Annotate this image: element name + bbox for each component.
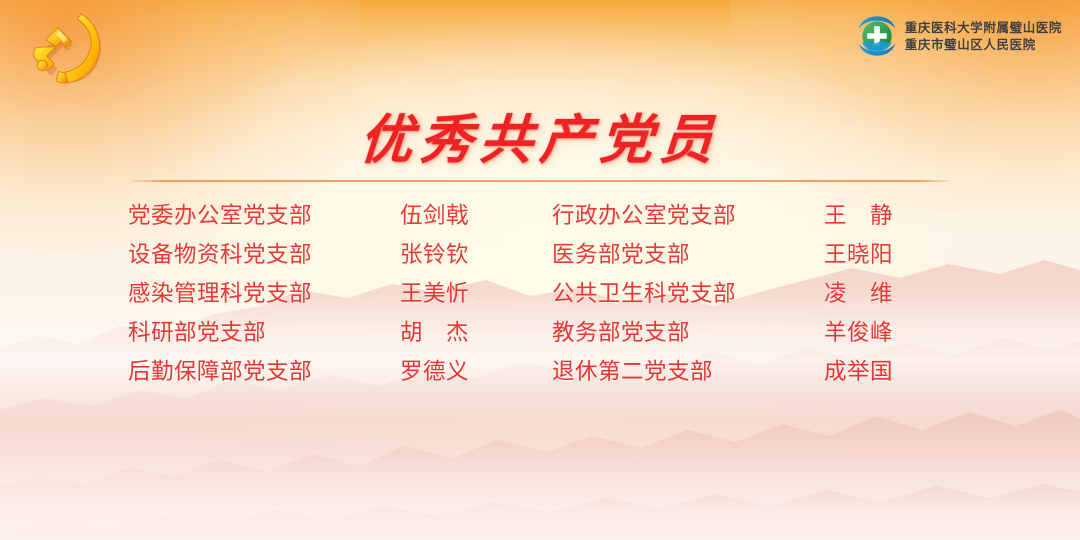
person-name: 张铃钦	[400, 235, 552, 274]
person-name: 伍剑戟	[400, 196, 552, 235]
title-divider	[130, 180, 950, 182]
branch-name: 医务部党支部	[552, 235, 824, 274]
hospital-name-line-1: 重庆医科大学附属璧山医院	[905, 21, 1062, 35]
person-name: 王晓阳	[824, 235, 952, 274]
branch-name: 科研部党支部	[128, 313, 400, 352]
branch-name: 设备物资科党支部	[128, 235, 400, 274]
table-row: 科研部党支部 胡 杰 教务部党支部 羊俊峰	[128, 313, 952, 352]
branch-name: 教务部党支部	[552, 313, 824, 352]
branch-name: 党委办公室党支部	[128, 196, 400, 235]
person-name: 王 静	[824, 196, 952, 235]
hospital-name-line-2: 重庆市璧山区人民医院	[905, 38, 1062, 52]
person-name: 成举国	[824, 352, 952, 391]
person-name: 胡 杰	[400, 313, 552, 352]
table-row: 感染管理科党支部 王美忻 公共卫生科党支部 凌 维	[128, 274, 952, 313]
hospital-logo: 重庆医科大学附属璧山医院 重庆市璧山区人民医院	[856, 14, 1062, 58]
honoree-roster: 党委办公室党支部 伍剑戟 行政办公室党支部 王 静 设备物资科党支部 张铃钦 医…	[128, 196, 952, 391]
person-name: 凌 维	[824, 274, 952, 313]
branch-name: 感染管理科党支部	[128, 274, 400, 313]
poster-canvas: 重庆医科大学附属璧山医院 重庆市璧山区人民医院 优秀共产党员 党委办公室党支部 …	[0, 0, 1080, 540]
hammer-and-sickle-icon	[26, 6, 112, 94]
hospital-name-block: 重庆医科大学附属璧山医院 重庆市璧山区人民医院	[905, 21, 1062, 52]
branch-name: 公共卫生科党支部	[552, 274, 824, 313]
person-name: 罗德义	[400, 352, 552, 391]
branch-name: 退休第二党支部	[552, 352, 824, 391]
page-title: 优秀共产党员	[0, 98, 1080, 174]
person-name: 王美忻	[400, 274, 552, 313]
branch-name: 行政办公室党支部	[552, 196, 824, 235]
branch-name: 后勤保障部党支部	[128, 352, 400, 391]
page-title-text: 优秀共产党员	[357, 98, 722, 174]
person-name: 羊俊峰	[824, 313, 952, 352]
hospital-cross-icon	[856, 15, 898, 57]
table-row: 设备物资科党支部 张铃钦 医务部党支部 王晓阳	[128, 235, 952, 274]
table-row: 党委办公室党支部 伍剑戟 行政办公室党支部 王 静	[128, 196, 952, 235]
table-row: 后勤保障部党支部 罗德义 退休第二党支部 成举国	[128, 352, 952, 391]
